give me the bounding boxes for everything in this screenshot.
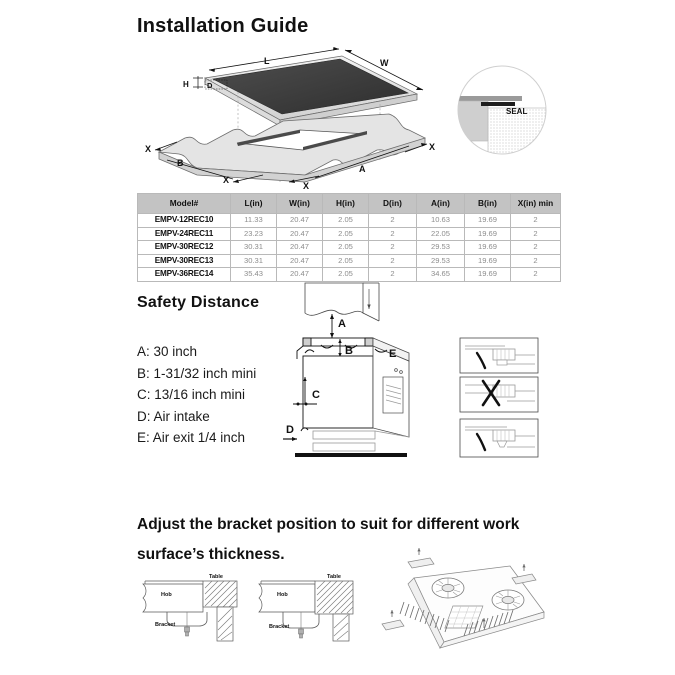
cooktop-exploded-diagram: L W H D X B X <box>137 42 437 190</box>
label-D-safety: D <box>286 424 294 436</box>
bracket-diagram-thin-surface: Hob Table Bracket <box>137 570 249 648</box>
cell-B: 19.69 <box>465 241 511 255</box>
cell-H: 2.05 <box>323 254 369 268</box>
cell-W: 20.47 <box>277 241 323 255</box>
cell-X: 2 <box>511 254 561 268</box>
cell-D: 2 <box>369 227 417 241</box>
table-row: EMPV-12REC10 11.33 20.47 2.05 2 10.63 19… <box>138 214 561 228</box>
column-header-B: B(in) <box>465 194 511 214</box>
label-D: D <box>207 81 213 90</box>
cell-D: 2 <box>369 241 417 255</box>
bracket-heading-line1: Adjust the bracket position to suit for … <box>137 510 567 540</box>
cell-B: 19.69 <box>465 254 511 268</box>
table-row: EMPV-24REC11 23.23 20.47 2.05 2 22.05 19… <box>138 227 561 241</box>
cell-model: EMPV-24REC11 <box>138 227 231 241</box>
cell-model: EMPV-30REC12 <box>138 241 231 255</box>
safety-item-c: C: 13/16 inch mini <box>137 384 256 406</box>
label-A-safety: A <box>338 318 346 330</box>
cell-B: 19.69 <box>465 214 511 228</box>
cell-W: 20.47 <box>277 227 323 241</box>
cell-model: EMPV-30REC13 <box>138 254 231 268</box>
installation-guide-page: Installation Guide L W H <box>0 0 675 675</box>
cell-H: 2.05 <box>323 214 369 228</box>
seal-label: SEAL <box>506 107 527 116</box>
label-C-safety: C <box>312 389 320 401</box>
table-row: EMPV-36REC14 35.43 20.47 2.05 2 34.65 19… <box>138 268 561 282</box>
bracket-part-top-left <box>408 548 434 568</box>
cell-W: 20.47 <box>277 254 323 268</box>
cell-X: 2 <box>511 227 561 241</box>
cell-D: 2 <box>369 254 417 268</box>
cell-H: 2.05 <box>323 241 369 255</box>
table-row: EMPV-30REC12 30.31 20.47 2.05 2 29.53 19… <box>138 241 561 255</box>
label-X-right: X <box>429 142 435 152</box>
column-header-A: A(in) <box>417 194 465 214</box>
cell-L: 35.43 <box>231 268 277 282</box>
cell-W: 20.47 <box>277 214 323 228</box>
label-H: H <box>183 80 189 89</box>
column-header-D: D(in) <box>369 194 417 214</box>
safety-item-a: A: 30 inch <box>137 341 256 363</box>
cell-D: 2 <box>369 214 417 228</box>
airflow-panel-blocked <box>460 377 538 412</box>
bracket-diagram-thick-surface: Hob Table Bracket <box>253 570 365 648</box>
label-L: L <box>264 56 270 66</box>
safety-distance-heading: Safety Distance <box>137 294 259 312</box>
column-header-L: L(in) <box>231 194 277 214</box>
label-B-safety: B <box>345 345 353 357</box>
cell-H: 2.05 <box>323 268 369 282</box>
safety-item-e: E: Air exit 1/4 inch <box>137 427 256 449</box>
cell-X: 2 <box>511 241 561 255</box>
label-X-bottom-center: X <box>303 181 309 190</box>
cell-L: 11.33 <box>231 214 277 228</box>
cell-L: 30.31 <box>231 241 277 255</box>
table-label-right: Table <box>327 574 341 580</box>
fan-assembly-left <box>432 578 464 598</box>
airflow-panel-ok-bottom <box>460 419 538 457</box>
cell-A: 10.63 <box>417 214 465 228</box>
table-label-left: Table <box>209 574 223 580</box>
bracket-label-left: Bracket <box>155 622 175 628</box>
column-header-W: W(in) <box>277 194 323 214</box>
hob-label-left: Hob <box>161 592 172 598</box>
cell-H: 2.05 <box>323 227 369 241</box>
cell-X: 2 <box>511 268 561 282</box>
seal-detail-diagram: SEAL <box>448 58 556 163</box>
bracket-label-right: Bracket <box>269 624 289 630</box>
table-row: EMPV-30REC13 30.31 20.47 2.05 2 29.53 19… <box>138 254 561 268</box>
label-W: W <box>380 58 389 68</box>
safety-item-b: B: 1-31/32 inch mini <box>137 363 256 385</box>
hob-label-right: Hob <box>277 592 288 598</box>
safety-item-d: D: Air intake <box>137 406 256 428</box>
column-header-H: H(in) <box>323 194 369 214</box>
table-header-row: Model# L(in) W(in) H(in) D(in) A(in) B(i… <box>138 194 561 214</box>
safety-distance-section-diagram: A B E <box>283 281 458 471</box>
cell-A: 22.05 <box>417 227 465 241</box>
cell-model: EMPV-36REC14 <box>138 268 231 282</box>
column-header-model: Model# <box>138 194 231 214</box>
label-X-left: X <box>145 144 151 154</box>
cell-model: EMPV-12REC10 <box>138 214 231 228</box>
cell-A: 34.65 <box>417 268 465 282</box>
cell-X: 2 <box>511 214 561 228</box>
spec-table: Model# L(in) W(in) H(in) D(in) A(in) B(i… <box>137 193 561 282</box>
cell-D: 2 <box>369 268 417 282</box>
label-X-bottom-left: X <box>223 175 229 185</box>
cell-A: 29.53 <box>417 254 465 268</box>
label-B: B <box>177 158 184 168</box>
page-title: Installation Guide <box>137 15 308 38</box>
cell-L: 23.23 <box>231 227 277 241</box>
fan-assembly-right <box>492 590 524 610</box>
cell-B: 19.69 <box>465 268 511 282</box>
cooktop-underside-diagram <box>372 548 552 668</box>
label-A: A <box>359 164 366 174</box>
column-header-X: X(in) min <box>511 194 561 214</box>
cell-L: 30.31 <box>231 254 277 268</box>
cell-A: 29.53 <box>417 241 465 255</box>
airflow-inset-panels <box>459 337 551 459</box>
label-E-safety: E <box>389 348 396 360</box>
cell-B: 19.69 <box>465 227 511 241</box>
airflow-panel-ok-top <box>460 338 538 373</box>
safety-distance-list: A: 30 inch B: 1-31/32 inch mini C: 13/16… <box>137 341 256 449</box>
cell-W: 20.47 <box>277 268 323 282</box>
